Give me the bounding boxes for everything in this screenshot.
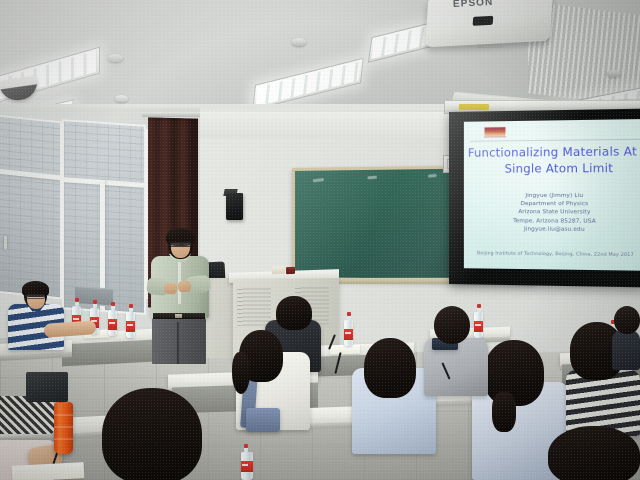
audience-head <box>434 306 470 344</box>
slide-title-line2: Single Atom Limit <box>468 161 640 176</box>
screen-tag <box>459 104 489 110</box>
notebook <box>12 462 85 480</box>
classroom-photo: EPSON Functionalizing Materials At The <box>0 0 640 480</box>
attendee-glasses-icon <box>26 294 45 299</box>
audience-hair <box>276 296 312 330</box>
water-bottle <box>108 310 117 336</box>
audience-shirt <box>612 330 640 370</box>
overall-strap <box>246 408 280 432</box>
projection-screen: Functionalizing Materials At The Single … <box>449 109 640 288</box>
slide-divider <box>470 139 640 142</box>
water-bottle <box>241 452 253 480</box>
presenter-glasses-icon <box>170 242 191 247</box>
curtain-rod <box>142 112 200 117</box>
presenter-hand <box>178 280 192 292</box>
slide-author-block: Jingyue (Jimmy) Liu Department of Physic… <box>464 192 640 235</box>
wall-speaker-icon <box>226 193 243 220</box>
presenter-hand <box>163 282 177 295</box>
asu-logo-icon <box>484 126 506 137</box>
slide-title: Functionalizing Materials At The Single … <box>468 144 640 176</box>
presenter-trousers <box>152 318 206 364</box>
audience-hair <box>102 388 202 480</box>
audience-hair <box>364 338 416 398</box>
audience-ponytail <box>492 392 516 432</box>
chalk-box <box>272 266 285 274</box>
slide-email: Jingyue.liu@asu.edu <box>464 225 640 235</box>
slide-footer: Beijing Institute of Technology, Beijing… <box>464 251 640 258</box>
laptop <box>26 372 68 402</box>
water-bottle <box>126 312 135 338</box>
slide-author-name: Jingyue (Jimmy) Liu <box>464 192 640 201</box>
board-eraser <box>286 267 295 274</box>
water-bottle <box>474 312 483 338</box>
notebook <box>330 344 360 354</box>
cabinet-vent <box>237 287 271 326</box>
window <box>62 119 146 315</box>
presentation-slide: Functionalizing Materials At The Single … <box>464 119 640 271</box>
water-bottle <box>344 320 353 346</box>
audience-head <box>614 306 640 334</box>
slide-title-line1: Functionalizing Materials At The <box>468 144 640 160</box>
audience-ponytail <box>232 352 250 394</box>
sports-drink-bottle <box>54 402 73 454</box>
presenter-belt <box>153 313 205 319</box>
window <box>0 115 62 300</box>
audience-hair <box>548 426 640 480</box>
audience-hair <box>484 340 544 406</box>
